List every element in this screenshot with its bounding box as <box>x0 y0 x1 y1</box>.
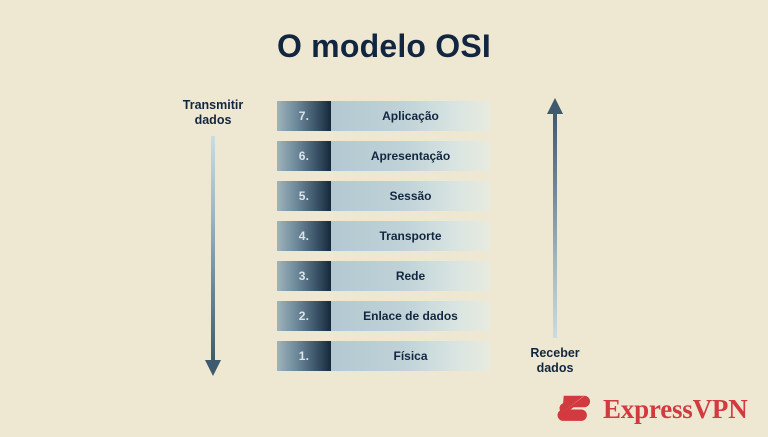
layer-row: 5. Sessão <box>277 181 490 211</box>
arrow-down-head <box>205 360 221 376</box>
layer-name: Rede <box>331 261 490 291</box>
receive-caption-line1: Receber <box>500 346 610 361</box>
layer-name: Transporte <box>331 221 490 251</box>
layer-name: Física <box>331 341 490 371</box>
receive-caption-line2: dados <box>500 361 610 376</box>
layer-row: 2. Enlace de dados <box>277 301 490 331</box>
layer-number: 2. <box>277 301 331 331</box>
expressvpn-wordmark: ExpressVPN <box>603 396 748 423</box>
transmit-caption-line1: Transmitir <box>158 98 268 113</box>
layer-row: 6. Apresentação <box>277 141 490 171</box>
layer-name: Sessão <box>331 181 490 211</box>
layer-row: 7. Aplicação <box>277 101 490 131</box>
layer-name: Apresentação <box>331 141 490 171</box>
layer-number: 7. <box>277 101 331 131</box>
layer-row: 3. Rede <box>277 261 490 291</box>
layer-number: 3. <box>277 261 331 291</box>
layer-row: 4. Transporte <box>277 221 490 251</box>
receive-arrow-group: Receber dados <box>500 98 610 376</box>
layer-number: 1. <box>277 341 331 371</box>
page-title: O modelo OSI <box>0 28 768 65</box>
arrow-down-shaft <box>211 136 215 362</box>
layer-name: Aplicação <box>331 101 490 131</box>
transmit-arrow-caption: Transmitir dados <box>158 98 268 128</box>
arrow-down-icon <box>158 136 268 376</box>
transmit-arrow-group: Transmitir dados <box>158 98 268 376</box>
expressvpn-logo-icon <box>554 392 594 426</box>
layer-number: 5. <box>277 181 331 211</box>
transmit-caption-line2: dados <box>158 113 268 128</box>
layer-number: 4. <box>277 221 331 251</box>
osi-layer-stack: 7. Aplicação 6. Apresentação 5. Sessão 4… <box>277 101 490 371</box>
arrow-up-icon <box>500 98 610 338</box>
receive-arrow-caption: Receber dados <box>500 346 610 376</box>
layer-row: 1. Física <box>277 341 490 371</box>
diagram-canvas: O modelo OSI Transmitir dados 7. Aplicaç… <box>0 0 768 437</box>
layer-number: 6. <box>277 141 331 171</box>
layer-name: Enlace de dados <box>331 301 490 331</box>
arrow-up-shaft <box>553 112 557 338</box>
expressvpn-logo: ExpressVPN <box>554 392 748 426</box>
